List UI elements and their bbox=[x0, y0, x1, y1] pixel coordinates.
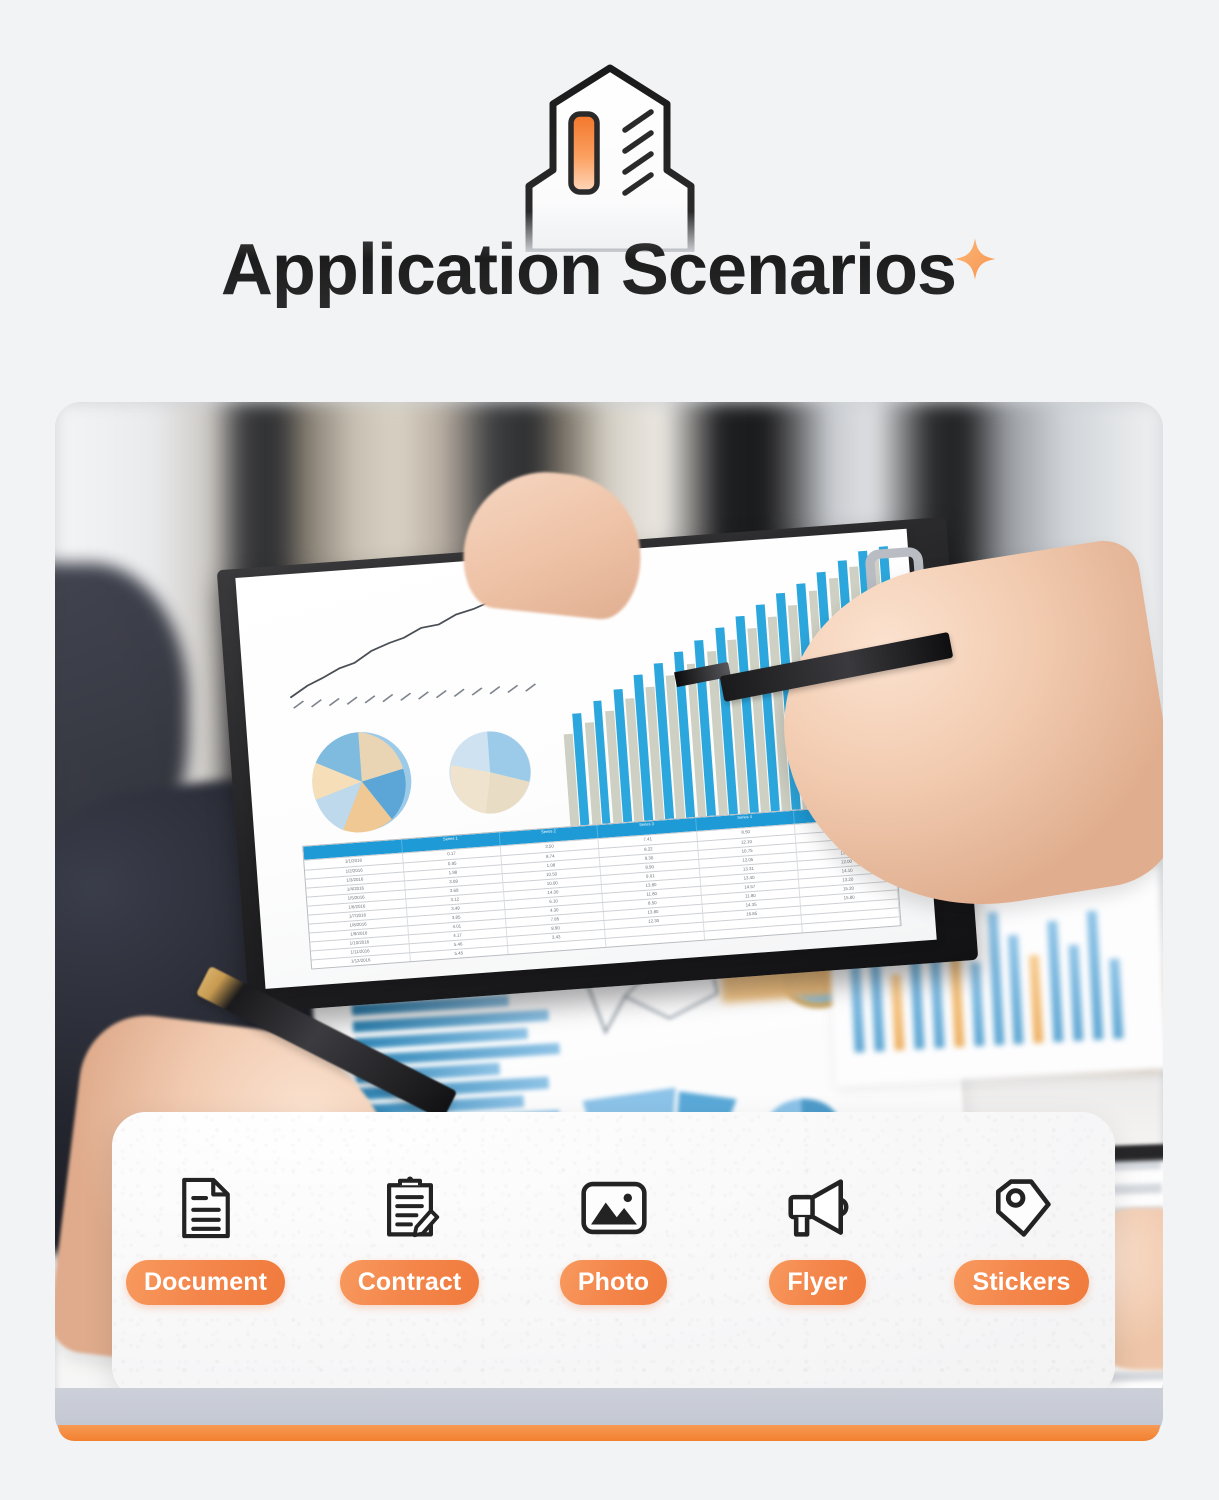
scenario-item-document[interactable]: Document bbox=[124, 1170, 288, 1305]
scenario-badge-list: Document bbox=[112, 1170, 1115, 1305]
megaphone-icon bbox=[782, 1170, 854, 1246]
scenario-item-stickers[interactable]: Stickers bbox=[940, 1170, 1104, 1305]
page-title: Application Scenarios bbox=[221, 232, 956, 308]
price-tag-icon bbox=[986, 1170, 1058, 1246]
sparkle-star-icon bbox=[952, 236, 998, 282]
pie-chart-left bbox=[287, 703, 564, 846]
document-page-icon bbox=[170, 1170, 242, 1246]
application-scenarios-card: Document bbox=[112, 1112, 1115, 1400]
bottom-accent-bar bbox=[58, 1425, 1160, 1441]
scenario-label: Contract bbox=[340, 1260, 480, 1305]
scenario-label: Flyer bbox=[769, 1260, 865, 1305]
scenario-label: Stickers bbox=[954, 1260, 1088, 1305]
scenario-label: Photo bbox=[560, 1260, 667, 1305]
scenario-item-photo[interactable]: Photo bbox=[532, 1170, 696, 1305]
scenario-item-flyer[interactable]: Flyer bbox=[736, 1170, 900, 1305]
page-header: Application Scenarios bbox=[0, 0, 1219, 395]
scenario-item-contract[interactable]: Contract bbox=[328, 1170, 492, 1305]
title-row: Application Scenarios bbox=[0, 232, 1219, 308]
scenario-label: Document bbox=[126, 1260, 285, 1305]
building-tower-icon bbox=[495, 62, 725, 252]
clipboard-pencil-icon bbox=[374, 1170, 446, 1246]
image-picture-icon bbox=[578, 1170, 650, 1246]
page-root: Application Scenarios bbox=[0, 0, 1219, 1500]
